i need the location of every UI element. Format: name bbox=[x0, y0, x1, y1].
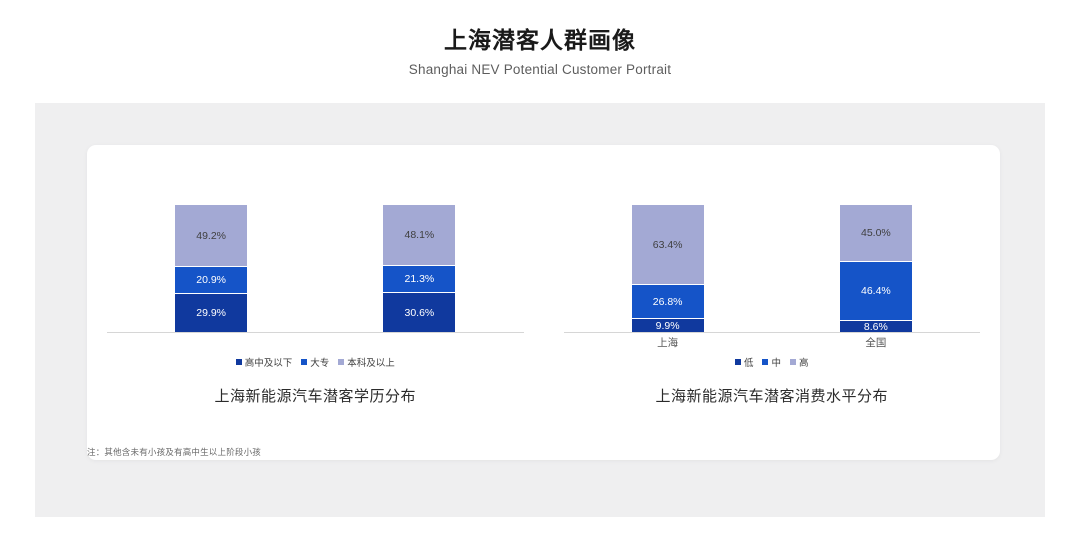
legend-item-本科及以上[interactable]: 本科及以上 bbox=[338, 355, 395, 369]
legend-item-大专[interactable]: 大专 bbox=[301, 355, 329, 369]
plot-area: 49.2%20.9%29.9%48.1%21.3%30.6% bbox=[107, 203, 524, 333]
x-axis-line bbox=[107, 332, 524, 333]
stacked-bar[interactable]: 48.1%21.3%30.6% bbox=[383, 205, 455, 332]
bar-segment-低[interactable]: 8.6% bbox=[840, 321, 912, 332]
x-axis-line bbox=[564, 332, 981, 333]
chart-caption: 上海新能源汽车潜客消费水平分布 bbox=[544, 385, 1001, 406]
bar-segment-本科及以上[interactable]: 49.2% bbox=[175, 205, 247, 267]
legend-swatch-icon bbox=[790, 359, 796, 365]
bar-column: 48.1%21.3%30.6% bbox=[359, 205, 479, 332]
legend-label: 低 bbox=[744, 355, 754, 369]
bar-segment-高[interactable]: 63.4% bbox=[632, 205, 704, 285]
chart-legend: 高中及以下大专本科及以上 bbox=[87, 355, 544, 369]
bar-segment-大专[interactable]: 20.9% bbox=[175, 267, 247, 294]
stacked-bar[interactable]: 49.2%20.9%29.9% bbox=[175, 205, 247, 332]
legend-swatch-icon bbox=[338, 359, 344, 365]
stacked-bar[interactable]: 45.0%46.4%8.6% bbox=[840, 205, 912, 332]
chart-2: 63.4%26.8%9.9%45.0%46.4%8.6%上海全国低中高上海新能源… bbox=[544, 145, 1001, 460]
charts-row: 49.2%20.9%29.9%48.1%21.3%30.6%高中及以下大专本科及… bbox=[87, 145, 1000, 460]
bar-column: 45.0%46.4%8.6% bbox=[816, 205, 936, 332]
legend-label: 高 bbox=[799, 355, 809, 369]
legend-item-高中及以下[interactable]: 高中及以下 bbox=[236, 355, 293, 369]
legend-label: 本科及以上 bbox=[347, 355, 395, 369]
bar-column: 63.4%26.8%9.9% bbox=[608, 205, 728, 332]
legend-swatch-icon bbox=[236, 359, 242, 365]
bar-segment-本科及以上[interactable]: 48.1% bbox=[383, 205, 455, 266]
bar-column: 49.2%20.9%29.9% bbox=[151, 205, 271, 332]
legend-item-低[interactable]: 低 bbox=[735, 355, 754, 369]
bar-segment-中[interactable]: 26.8% bbox=[632, 285, 704, 319]
legend-swatch-icon bbox=[301, 359, 307, 365]
legend-label: 中 bbox=[771, 355, 781, 369]
x-axis-tick-label: 上海 bbox=[608, 335, 728, 351]
content-panel: 49.2%20.9%29.9%48.1%21.3%30.6%高中及以下大专本科及… bbox=[35, 103, 1045, 517]
page-title-cn: 上海潜客人群画像 bbox=[0, 0, 1080, 55]
bar-group: 63.4%26.8%9.9%45.0%46.4%8.6% bbox=[564, 205, 981, 332]
bar-segment-低[interactable]: 9.9% bbox=[632, 319, 704, 332]
bar-segment-高中及以下[interactable]: 30.6% bbox=[383, 293, 455, 332]
legend-swatch-icon bbox=[735, 359, 741, 365]
chart-1: 49.2%20.9%29.9%48.1%21.3%30.6%高中及以下大专本科及… bbox=[87, 145, 544, 460]
bar-segment-大专[interactable]: 21.3% bbox=[383, 266, 455, 293]
page-subtitle-en: Shanghai NEV Potential Customer Portrait bbox=[0, 55, 1080, 77]
legend-label: 高中及以下 bbox=[245, 355, 293, 369]
chart-caption: 上海新能源汽车潜客学历分布 bbox=[87, 385, 544, 406]
legend-item-中[interactable]: 中 bbox=[762, 355, 781, 369]
legend-label: 大专 bbox=[310, 355, 329, 369]
bar-group: 49.2%20.9%29.9%48.1%21.3%30.6% bbox=[107, 205, 524, 332]
x-axis-labels: 上海全国 bbox=[564, 335, 981, 351]
charts-card: 49.2%20.9%29.9%48.1%21.3%30.6%高中及以下大专本科及… bbox=[87, 145, 1000, 460]
bar-segment-高中及以下[interactable]: 29.9% bbox=[175, 294, 247, 332]
stacked-bar[interactable]: 63.4%26.8%9.9% bbox=[632, 205, 704, 332]
legend-swatch-icon bbox=[762, 359, 768, 365]
x-axis-tick-label: 全国 bbox=[816, 335, 936, 351]
footnote: 注：其他含未有小孩及有高中生以上阶段小孩 bbox=[87, 446, 261, 458]
page-header: 上海潜客人群画像 Shanghai NEV Potential Customer… bbox=[0, 0, 1080, 77]
bar-segment-中[interactable]: 46.4% bbox=[840, 262, 912, 321]
legend-item-高[interactable]: 高 bbox=[790, 355, 809, 369]
bar-segment-高[interactable]: 45.0% bbox=[840, 205, 912, 262]
chart-legend: 低中高 bbox=[544, 355, 1001, 369]
plot-area: 63.4%26.8%9.9%45.0%46.4%8.6% bbox=[564, 203, 981, 333]
